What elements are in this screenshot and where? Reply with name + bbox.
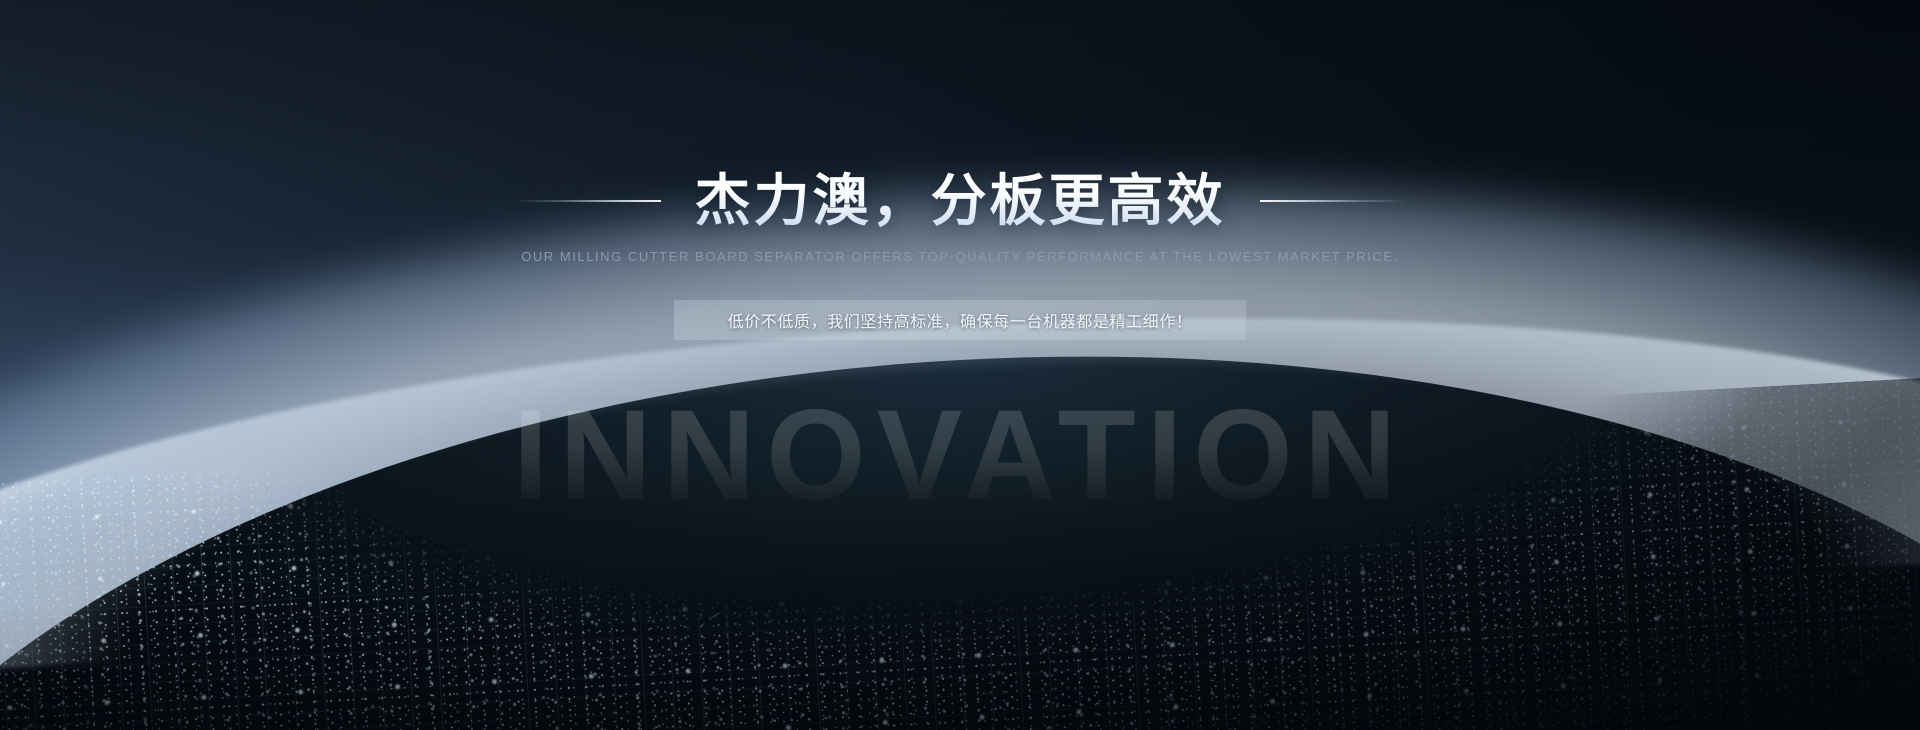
hero-subtitle: OUR MILLING CUTTER BOARD SEPARATOR OFFER… <box>0 249 1920 264</box>
hero-banner: INNOVATION 杰力澳，分板更高效 OUR MILLING CUTTER … <box>0 0 1920 730</box>
tagline-bar: 低价不低质，我们坚持高标准，确保每一台机器都是精工细作！ <box>674 300 1246 340</box>
innovation-watermark: INNOVATION <box>0 392 1920 520</box>
headline-rule-right-icon <box>1260 200 1408 202</box>
headline-rule-left-icon <box>513 200 661 202</box>
page-title: 杰力澳，分板更高效 <box>695 168 1226 234</box>
tagline-text: 低价不低质，我们坚持高标准，确保每一台机器都是精工细作！ <box>728 308 1193 332</box>
